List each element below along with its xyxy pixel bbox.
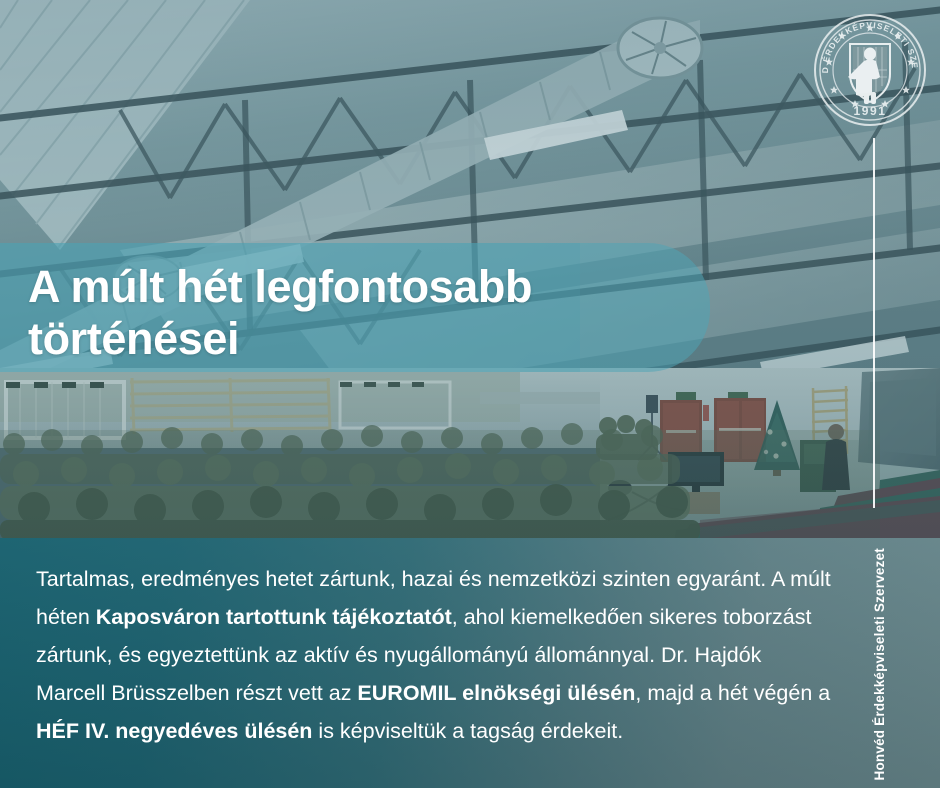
vertical-brand-label: Honvéd Érdekképviseleti Szervezet (862, 548, 896, 780)
body-text-emphasis: Kaposváron tartottunk tájékoztatót (96, 605, 452, 629)
body-text-emphasis: HÉF IV. negyedéves ülésén (36, 719, 312, 743)
page-title-line2: történései (28, 313, 728, 365)
body-paragraph: Tartalmas, eredményes hetet zártunk, haz… (36, 560, 836, 750)
logo-year: 1991 (853, 104, 886, 118)
ceiling-fan-icon (618, 18, 702, 78)
body-text-emphasis: EUROMIL elnökségi ülésén (357, 681, 635, 705)
page-title-line1: A múlt hét legfontosabb (28, 261, 728, 313)
shield-with-soldier-icon (848, 44, 890, 104)
body-text-run: , majd a hét végén a (635, 681, 830, 705)
vertical-brand-label-text: Honvéd Érdekképviseleti Szervezet (872, 548, 887, 780)
emblem-icon: HONVÉD ÉRDEKKÉPVISELETI SZERVEZET (812, 12, 928, 128)
page-title: A múlt hét legfontosabb történései (28, 261, 728, 365)
vertical-divider-rule (873, 138, 875, 508)
body-text-run: is képviseltük a tagság érdekeit. (312, 719, 623, 743)
poster-root: HONVÉD ÉRDEKKÉPVISELETI SZERVEZET (0, 0, 940, 788)
organization-logo: HONVÉD ÉRDEKKÉPVISELETI SZERVEZET (812, 12, 928, 128)
